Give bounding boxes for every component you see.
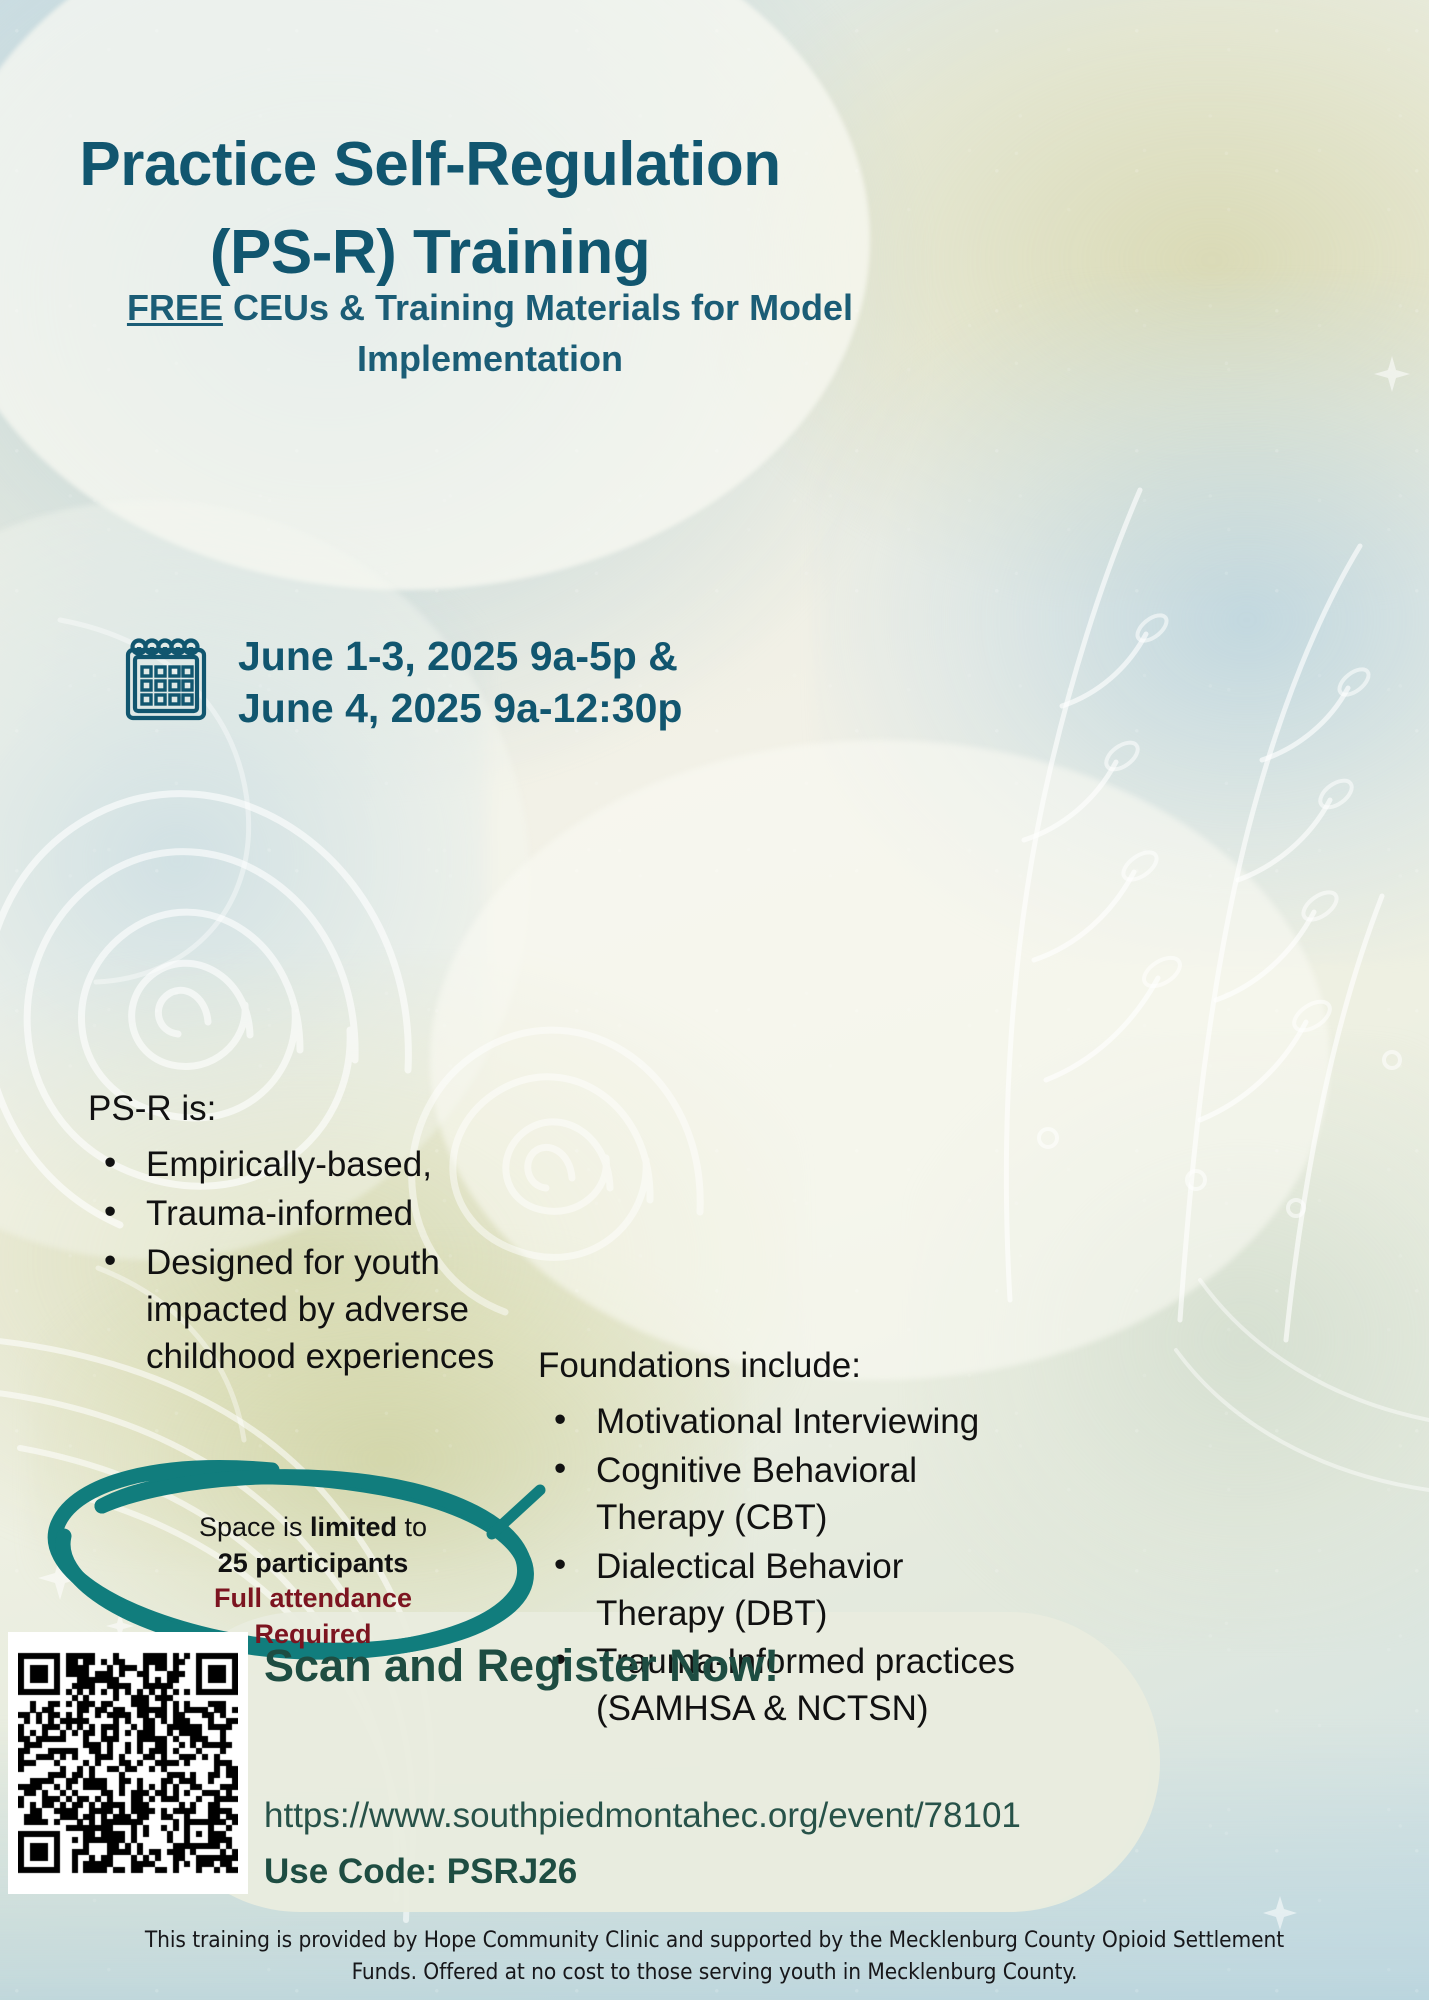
subtitle-rest: CEUs & Training Materials for Model [223, 287, 853, 328]
event-dates: June 1-3, 2025 9a-5p & June 4, 2025 9a-1… [238, 630, 682, 735]
list-item: Empirically-based, [88, 1142, 558, 1189]
psr-description-block: PS-R is: Empirically-based, Trauma-infor… [88, 1088, 558, 1382]
list-item: Dialectical Behavior Therapy (DBT) [538, 1544, 1038, 1638]
qr-code-card[interactable] [8, 1632, 248, 1894]
event-date-block: June 1-3, 2025 9a-5p & June 4, 2025 9a-1… [120, 630, 682, 735]
attendance-required-line-1: Full attendance [148, 1581, 478, 1617]
registration-url[interactable]: https://www.southpiedmontahec.org/event/… [264, 1796, 1021, 1836]
capacity-callout-line-1: Space is limited to [148, 1510, 478, 1546]
flyer-poster: Practice Self-Regulation (PS-R) Training… [0, 0, 1429, 2000]
list-item: Motivational Interviewing [538, 1399, 1038, 1446]
qr-code[interactable] [18, 1642, 238, 1884]
foundations-heading: Foundations include: [538, 1345, 1038, 1387]
subtitle-free-emphasis: FREE [127, 287, 223, 328]
subtitle-line-2: Implementation [120, 333, 860, 384]
capacity-participants: 25 participants [148, 1546, 478, 1582]
list-item: Trauma-informed [88, 1191, 558, 1238]
list-item: Cognitive Behavioral Therapy (CBT) [538, 1448, 1038, 1542]
capacity-text-post: to [397, 1512, 427, 1542]
page-title-line-1: Practice Self-Regulation [0, 132, 860, 197]
background-wash-blue-right [815, 280, 1429, 960]
capacity-text-bold: limited [310, 1512, 397, 1542]
background-disc-center [430, 740, 1330, 1380]
list-item: Designed for youth impacted by adverse c… [88, 1240, 558, 1381]
calendar-icon [120, 634, 212, 731]
subtitle: FREE CEUs & Training Materials for Model… [120, 282, 860, 384]
psr-heading: PS-R is: [88, 1088, 558, 1130]
footer-line-2: Funds. Offered at no cost to those servi… [0, 1957, 1429, 1989]
footer-disclaimer: This training is provided by Hope Commun… [0, 1925, 1429, 1989]
page-title-line-2: (PS-R) Training [0, 220, 860, 285]
scan-register-heading: Scan and Register Now! [264, 1640, 779, 1692]
capacity-text-pre: Space is [199, 1512, 310, 1542]
psr-bullet-list: Empirically-based, Trauma-informed Desig… [88, 1142, 558, 1380]
footer-line-1: This training is provided by Hope Commun… [0, 1925, 1429, 1957]
registration-code: Use Code: PSRJ26 [264, 1852, 577, 1892]
